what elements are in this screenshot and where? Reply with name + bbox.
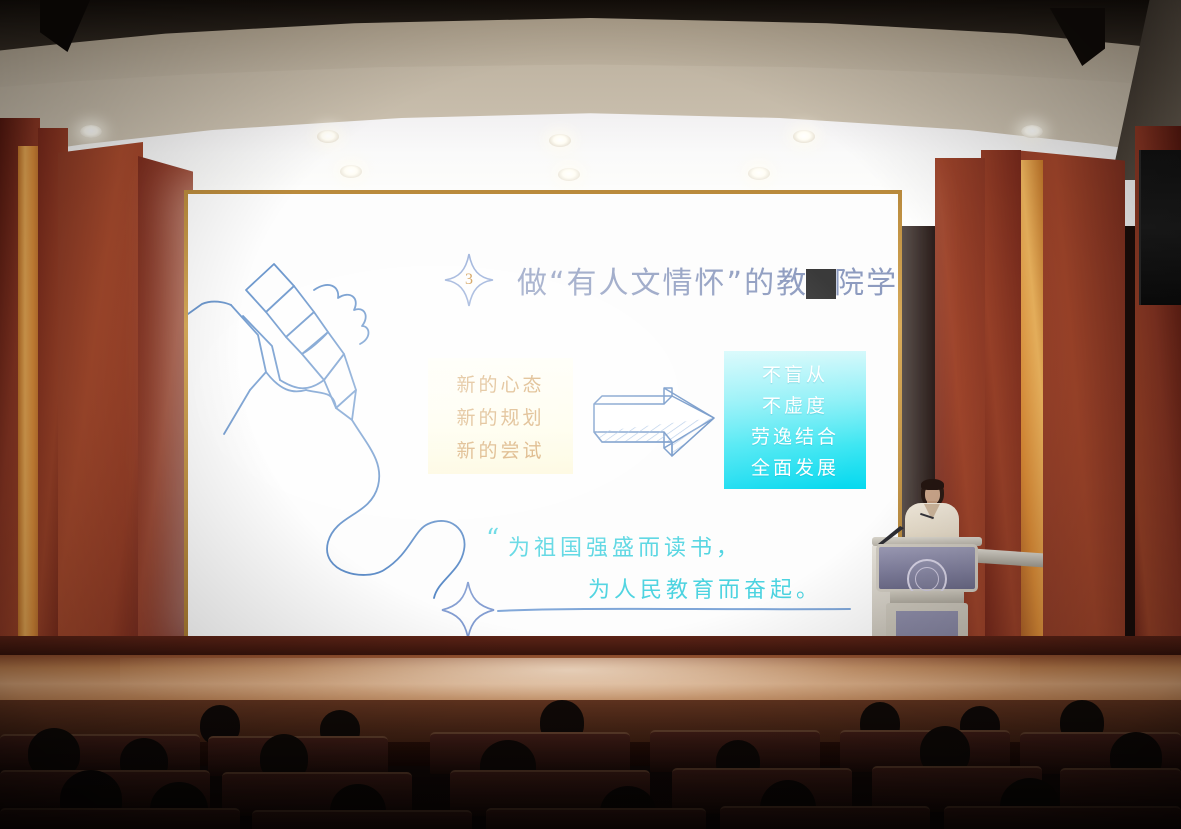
ceiling-downlight	[793, 130, 815, 143]
ceiling-downlight	[748, 167, 770, 180]
ceiling-downlight	[1021, 125, 1043, 138]
quote-line-1: 为祖国强盛而读书，	[508, 530, 742, 562]
left-box-line: 新的心态	[456, 370, 544, 397]
podium-upper-front	[876, 544, 978, 592]
ceiling-downlight	[340, 165, 362, 178]
auditorium-photo: 3 做“有人文情怀”的教院学子 新的心态 新的规划 新的尝试	[0, 0, 1181, 829]
right-box-line: 劳逸结合	[751, 422, 839, 449]
quote-open-mark: “	[486, 524, 499, 554]
slide-left-text-box: 新的心态 新的规划 新的尝试	[428, 358, 573, 474]
slide-title-row: 3 做“有人文情怀”的教院学子	[443, 252, 898, 308]
seat-back	[252, 810, 472, 829]
seat-back	[486, 808, 706, 829]
right-box-line: 全面发展	[751, 453, 839, 480]
seat-back	[944, 806, 1181, 829]
right-box-line: 不盲从	[762, 360, 828, 387]
ceiling-speaker-icon	[1139, 150, 1181, 305]
ceiling-downlight	[558, 168, 580, 181]
four-point-star-icon	[438, 576, 858, 636]
slide-title: 做“有人文情怀”的教院学子	[517, 258, 898, 302]
ceiling-downlight	[317, 130, 339, 143]
slide-title-after: 院学子	[834, 266, 898, 301]
section-number: 3	[443, 252, 495, 308]
slide-title-before: 做“有人文情怀”的教	[517, 266, 808, 301]
left-box-line: 新的规划	[456, 403, 544, 430]
right-arrow-sketch-icon	[590, 378, 720, 470]
projection-screen: 3 做“有人文情怀”的教院学子 新的心态 新的规划 新的尝试	[188, 194, 898, 636]
star-badge-icon: 3	[443, 252, 495, 308]
wall-panel-left-3	[58, 142, 143, 682]
right-box-line: 不虚度	[762, 391, 828, 418]
ceiling-downlight	[549, 134, 571, 147]
seat-back	[720, 806, 930, 829]
left-box-line: 新的尝试	[456, 436, 544, 463]
slide-right-text-box: 不盲从 不虚度 劳逸结合 全面发展	[724, 351, 866, 489]
presenter-hair	[921, 479, 944, 490]
seat-back	[0, 808, 240, 829]
wall-panel-right-3	[981, 150, 1021, 684]
ceiling-downlight	[80, 125, 102, 138]
redaction-box	[806, 269, 836, 299]
audience-area	[0, 700, 1181, 829]
